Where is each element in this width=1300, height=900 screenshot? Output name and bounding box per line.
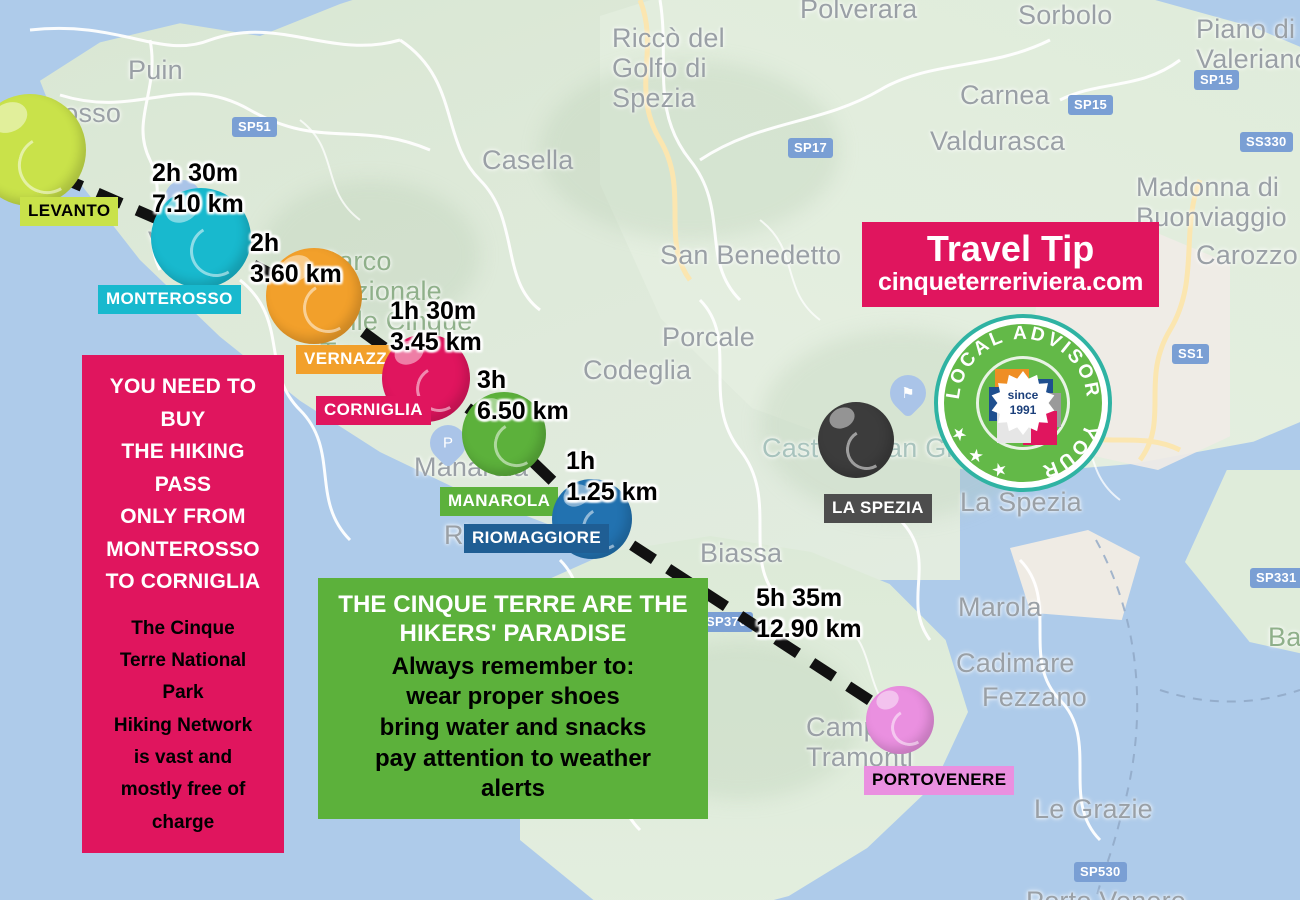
road-shield: SP51 [232, 117, 277, 137]
map-label: Carozzo [1196, 240, 1298, 270]
town-label-manarola[interactable]: MANAROLA [440, 487, 558, 516]
map-label: San Benedetto [660, 240, 841, 270]
map-label: Polverara [800, 0, 917, 24]
road-shield: SP15 [1194, 70, 1239, 90]
town-label-riomaggiore[interactable]: RIOMAGGIORE [464, 524, 609, 553]
leg-time: 3h [477, 365, 569, 396]
leg-time: 1h [566, 446, 658, 477]
leg-label-corniglia-manarola: 3h6.50 km [477, 365, 569, 426]
leg-time: 5h 35m [756, 583, 862, 614]
road-shield: SP530 [1074, 862, 1127, 882]
logo-since-label: since [1008, 388, 1039, 403]
map-label: Valdurasca [930, 126, 1065, 156]
map-label: Piano di Valeriano-Beverino [1196, 14, 1300, 74]
map-label: Le Grazie [1034, 794, 1153, 824]
map-label: Fezzano [982, 682, 1087, 712]
leg-distance: 12.90 km [756, 614, 862, 645]
travel-tip-badge[interactable]: Travel Tip cinqueterreriviera.com [862, 222, 1159, 307]
leg-label-vernazza-corniglia: 1h 30m3.45 km [390, 296, 482, 357]
map-label: Porcale [662, 322, 755, 352]
leg-distance: 7.10 km [152, 189, 244, 220]
map-label: Bastia [1268, 622, 1300, 652]
leg-distance: 1.25 km [566, 477, 658, 508]
road-shield: SS1 [1172, 344, 1209, 364]
leg-label-riomaggiore-portovenere: 5h 35m12.90 km [756, 583, 862, 644]
town-label-portovenere[interactable]: PORTOVENERE [864, 766, 1014, 795]
logo-since-year: 1991 [1010, 403, 1037, 418]
leg-time: 2h 30m [152, 158, 244, 189]
road-shield: SP17 [788, 138, 833, 158]
hikers-paradise-body: Always remember to: wear proper shoes br… [328, 652, 698, 806]
map-label: Codeglia [583, 355, 691, 385]
logo-inner-circle: since 1991 [976, 356, 1070, 450]
hiking-pass-info-box: YOU NEED TO BUY THE HIKING PASS ONLY FRO… [82, 355, 284, 853]
map-label: Sorbolo [1018, 0, 1112, 30]
town-label-laspezia[interactable]: LA SPEZIA [824, 494, 932, 523]
poi-glyph: ⚑ [901, 384, 914, 402]
leg-distance: 3.60 km [250, 259, 342, 290]
poi-glyph: P [443, 435, 453, 452]
hiking-pass-headline: YOU NEED TO BUY THE HIKING PASS ONLY FRO… [90, 371, 276, 599]
map-label: Porto Venere [1026, 886, 1186, 900]
road-shield: SS330 [1240, 132, 1293, 152]
leg-label-manarola-riomaggiore: 1h1.25 km [566, 446, 658, 507]
leg-distance: 3.45 km [390, 327, 482, 358]
travel-tip-website[interactable]: cinqueterreriviera.com [878, 268, 1143, 297]
leg-label-monterosso-vernazza: 2h3.60 km [250, 228, 342, 289]
your-local-advisor-logo[interactable]: LOCAL ADVISOR YOUR ★ ★ ★ since 1991 [934, 314, 1112, 492]
map-label: Cadimare [956, 648, 1075, 678]
leg-time: 1h 30m [390, 296, 482, 327]
town-label-monterosso[interactable]: MONTEROSSO [98, 285, 241, 314]
leg-time: 2h [250, 228, 342, 259]
leg-label-levanto-monterosso: 2h 30m7.10 km [152, 158, 244, 219]
hikers-paradise-info-box: THE CINQUE TERRE ARE THE HIKERS' PARADIS… [318, 578, 708, 819]
map-label: Biassa [700, 538, 782, 568]
road-shield: SP15 [1068, 95, 1113, 115]
hiking-pass-body: The Cinque Terre National Park Hiking Ne… [90, 613, 276, 839]
map-canvas[interactable]: PuinMonterosso MareVernazzaCasellaRiccò … [0, 0, 1300, 900]
map-label: Marola [958, 592, 1042, 622]
town-label-corniglia[interactable]: CORNIGLIA [316, 396, 431, 425]
hikers-paradise-headline: THE CINQUE TERRE ARE THE HIKERS' PARADIS… [328, 590, 698, 649]
map-label: Riccò del Golfo di Spezia [612, 23, 725, 114]
leg-distance: 6.50 km [477, 396, 569, 427]
map-label: Casella [482, 145, 573, 175]
road-shield: SP331 [1250, 568, 1300, 588]
map-label: Carnea [960, 80, 1050, 110]
map-label: Puin [128, 55, 183, 85]
travel-tip-title: Travel Tip [878, 230, 1143, 268]
town-dot-laspezia[interactable] [818, 402, 894, 478]
town-label-levanto[interactable]: LEVANTO [20, 197, 118, 226]
town-dot-portovenere[interactable] [866, 686, 934, 754]
